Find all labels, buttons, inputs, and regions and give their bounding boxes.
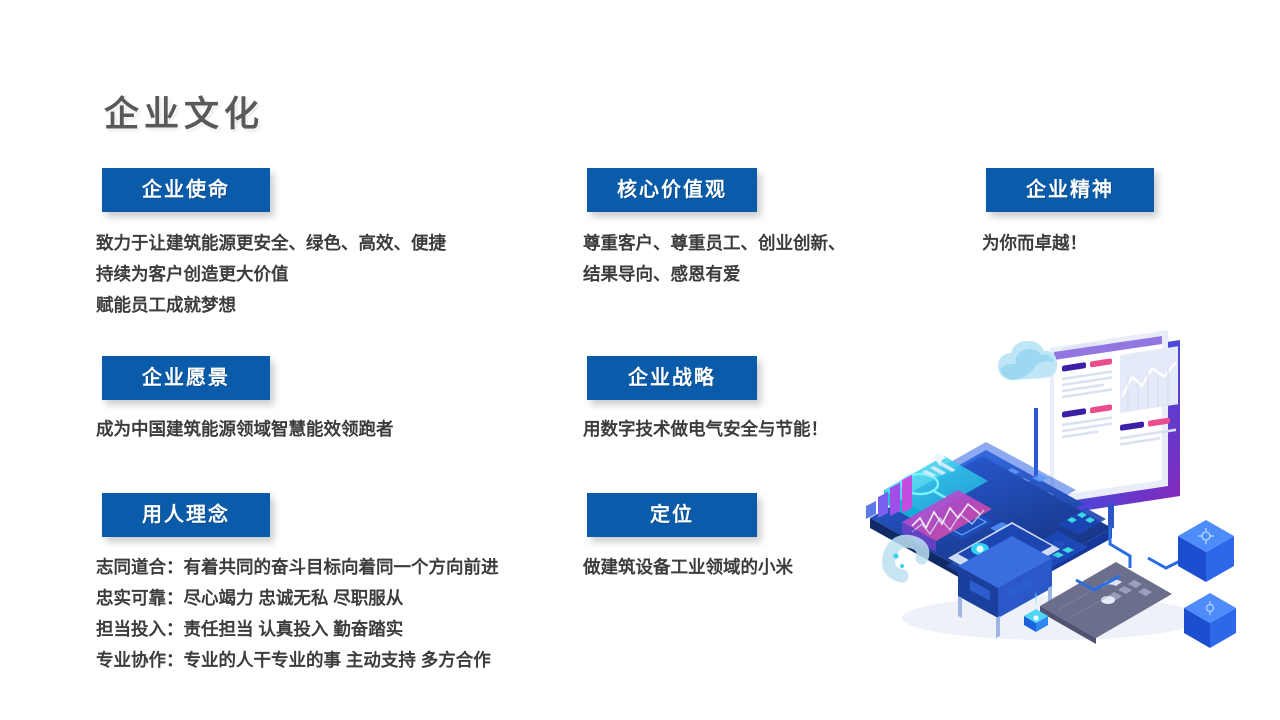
badge-mission: 企业使命 [102,168,270,212]
body-line: 为你而卓越！ [982,228,1087,259]
badge-core-values: 核心价值观 [587,168,757,212]
body-line: 持续为客户创造更大价值 [96,259,446,290]
ground-shadow [902,596,1202,640]
body-mission: 致力于让建筑能源更安全、绿色、高效、便捷 持续为客户创造更大价值 赋能员工成就梦… [96,228,446,321]
coolant-pipe [889,541,923,576]
waveform-panel [902,490,992,552]
page-title: 企业文化 [104,86,264,137]
data-cube [1178,520,1234,582]
badge-positioning: 定位 [587,493,757,537]
body-line: 赋能员工成就梦想 [96,290,446,321]
body-line: 做建筑设备工业领域的小米 [583,552,793,583]
body-line: 志同道合：有着共同的奋斗目标向着同一个方向前进 [96,552,499,583]
dashboard-monitor [1050,330,1180,529]
slide-canvas: 企业文化 企业使命 致力于让建筑能源更安全、绿色、高效、便捷 持续为客户创造更大… [0,0,1280,720]
badge-spirit: 企业精神 [986,168,1154,212]
cloud-icon [998,341,1057,496]
body-vision: 成为中国建筑能源领域智慧能效领跑者 [96,414,394,445]
analytics-slab [884,452,988,528]
body-line: 尊重客户、尊重员工、创业创新、 [583,228,846,259]
body-line: 致力于让建筑能源更安全、绿色、高效、便捷 [96,228,446,259]
isometric-tech-illustration [862,318,1262,668]
body-strategy: 用数字技术做电气安全与节能！ [583,414,828,445]
body-line: 用数字技术做电气安全与节能！ [583,414,828,445]
body-line: 专业协作：专业的人干专业的事 主动支持 多方合作 [96,645,499,676]
connector-cables [1076,526,1182,590]
body-core-values: 尊重客户、尊重员工、创业创新、 结果导向、感恩有爱 [583,228,846,290]
badge-talent: 用人理念 [102,493,270,537]
data-cube-small [1184,593,1236,648]
keypad-panel [1040,562,1172,644]
main-board [870,456,1112,600]
body-line: 忠实可靠：尽心竭力 忠诚无私 尽职服从 [96,583,499,614]
circuit-board-platform [908,442,1084,548]
badge-strategy: 企业战略 [587,356,757,400]
body-talent: 志同道合：有着共同的奋斗目标向着同一个方向前进 忠实可靠：尽心竭力 忠诚无私 尽… [96,552,499,676]
sensor-node-icon [1024,592,1048,632]
body-line: 结果导向、感恩有爱 [583,259,846,290]
bar-chart-panel [866,475,912,519]
server-rack [946,522,1060,638]
body-spirit: 为你而卓越！ [982,228,1087,259]
body-line: 担当投入：责任担当 认真投入 勤奋踏实 [96,614,499,645]
body-positioning: 做建筑设备工业领域的小米 [583,552,793,583]
body-line: 成为中国建筑能源领域智慧能效领跑者 [96,414,394,445]
badge-vision: 企业愿景 [102,356,270,400]
